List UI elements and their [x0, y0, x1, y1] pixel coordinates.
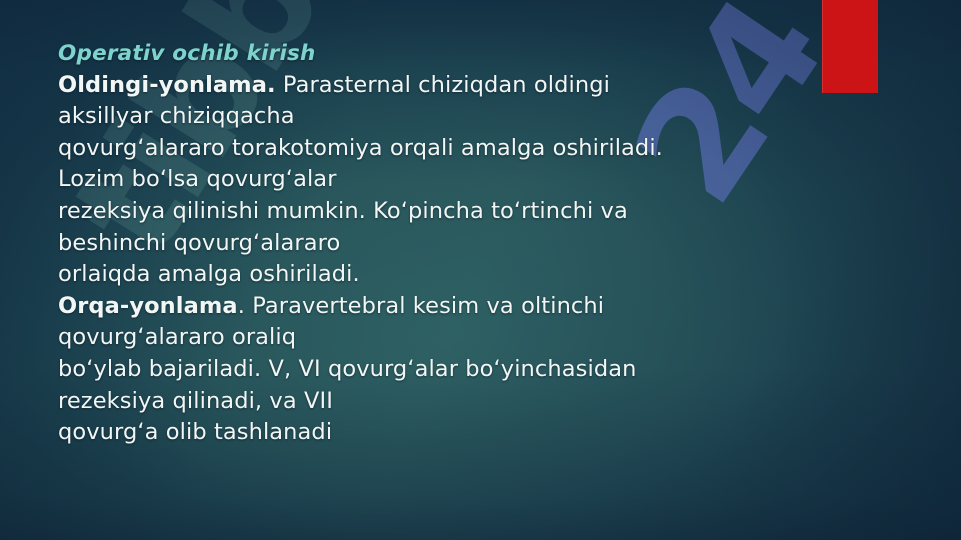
text-line-rest: . Paravertebral kesim va oltinchi — [238, 293, 604, 319]
text-line: orlaiqda amalga oshiriladi. — [58, 259, 888, 291]
text-line: rezeksiya qilinishi mumkin. Ko‘pincha to… — [58, 196, 888, 228]
text-line-rest: rezeksiya qilinishi mumkin. Ko‘pincha to… — [58, 198, 628, 224]
slide-title: Operativ ochib kirish — [58, 38, 888, 70]
slide-text-body: Operativ ochib kirish Oldingi-yonlama. P… — [58, 38, 888, 449]
text-line-rest: Parasternal chiziqdan oldingi — [276, 72, 610, 98]
text-line-rest: qovurg‘alararo torakotomiya orqali amalg… — [58, 135, 663, 161]
text-line-rest: beshinchi qovurg‘alararo — [58, 230, 340, 256]
text-line-rest: orlaiqda amalga oshiriladi. — [58, 261, 360, 287]
text-line: qovurg‘alararo torakotomiya orqali amalg… — [58, 133, 888, 165]
text-line-rest: rezeksiya qilinadi, va VII — [58, 388, 333, 414]
text-line: rezeksiya qilinadi, va VII — [58, 386, 888, 418]
text-line-rest: bo‘ylab bajariladi. V, VI qovurg‘alar bo… — [58, 356, 636, 382]
text-line-lead: Oldingi-yonlama. — [58, 72, 276, 98]
text-line-rest: qovurg‘alararo oraliq — [58, 324, 296, 350]
text-line-rest: aksillyar chiziqqacha — [58, 103, 295, 129]
text-line: Orqa-yonlama. Paravertebral kesim va olt… — [58, 291, 888, 323]
presentation-slide: tibbiyot 24 Operativ ochib kirish Olding… — [0, 0, 961, 540]
text-line: bo‘ylab bajariladi. V, VI qovurg‘alar bo… — [58, 354, 888, 386]
text-line-lead: Orqa-yonlama — [58, 293, 238, 319]
text-line-rest: Lozim bo‘lsa qovurg‘alar — [58, 166, 337, 192]
text-line: Oldingi-yonlama. Parasternal chiziqdan o… — [58, 70, 888, 102]
text-line: qovurg‘alararo oraliq — [58, 322, 888, 354]
text-line: beshinchi qovurg‘alararo — [58, 228, 888, 260]
text-line: Lozim bo‘lsa qovurg‘alar — [58, 164, 888, 196]
text-line-rest: qovurg‘a olib tashlanadi — [58, 419, 332, 445]
text-line: qovurg‘a olib tashlanadi — [58, 417, 888, 449]
text-line: aksillyar chiziqqacha — [58, 101, 888, 133]
